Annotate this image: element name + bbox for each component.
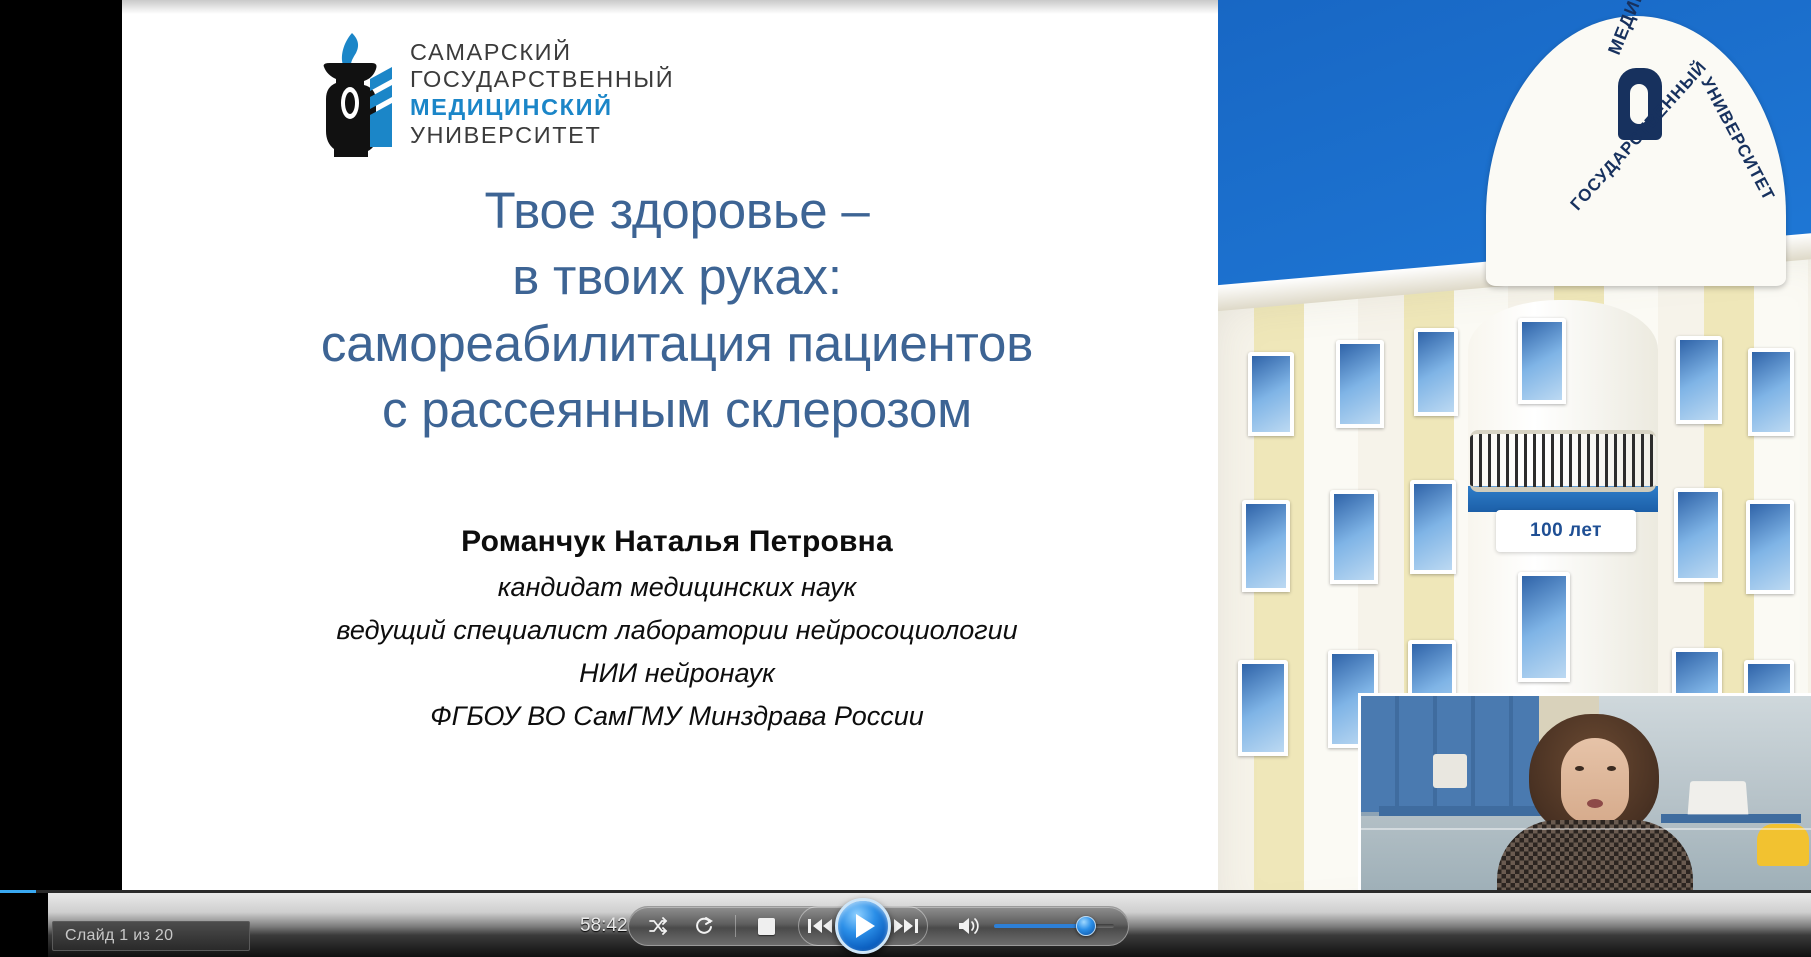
- presentation-slide: САМАРСКИЙ ГОСУДАРСТВЕННЫЙ МЕДИЦИНСКИЙ УН…: [122, 0, 1218, 890]
- logo-line-3: МЕДИЦИНСКИЙ: [410, 94, 674, 122]
- volume-control: [954, 911, 1114, 941]
- office-laptop: [1688, 781, 1749, 814]
- shuffle-icon[interactable]: [643, 911, 673, 941]
- playback-progress-fill: [0, 890, 36, 893]
- samgmu-torch-emblem-icon: [318, 29, 396, 159]
- window: [1336, 340, 1384, 428]
- next-button[interactable]: [891, 911, 921, 941]
- webcam-scanline: [1361, 828, 1811, 830]
- presenter-credential-1: кандидат медицинских наук: [182, 572, 1172, 603]
- volume-slider-knob[interactable]: [1076, 916, 1096, 936]
- university-logo: САМАРСКИЙ ГОСУДАРСТВЕННЫЙ МЕДИЦИНСКИЙ УН…: [318, 28, 738, 160]
- presenter-eye-right: [1607, 766, 1616, 771]
- presenter-webcam-overlay[interactable]: [1358, 693, 1811, 890]
- office-chair: [1757, 824, 1809, 866]
- window: [1748, 348, 1794, 436]
- window: [1238, 660, 1288, 756]
- presenter-credential-3: НИИ нейронаук: [182, 658, 1172, 689]
- window: [1518, 572, 1570, 682]
- presenter-torso: [1497, 820, 1693, 890]
- window: [1676, 336, 1722, 424]
- window: [1330, 490, 1378, 584]
- presenter-credential-4: ФГБОУ ВО СамГМУ Минздрава России: [182, 701, 1172, 732]
- window: [1746, 500, 1794, 594]
- title-line-2: в твоих руках:: [262, 244, 1092, 310]
- skip-button-group: [798, 906, 928, 946]
- slide-title: Твое здоровье – в твоих руках: самореаби…: [262, 178, 1092, 443]
- building-balcony: [1470, 430, 1656, 492]
- player-bottom-bar: Слайд 1 из 20 58:42: [0, 890, 1811, 957]
- title-line-4: с рассеянным склерозом: [262, 377, 1092, 443]
- transport-button-group: [628, 906, 1129, 946]
- slide-counter: Слайд 1 из 20: [52, 921, 250, 951]
- logo-wordmark: САМАРСКИЙ ГОСУДАРСТВЕННЫЙ МЕДИЦИНСКИЙ УН…: [410, 39, 674, 150]
- previous-button[interactable]: [805, 911, 835, 941]
- window: [1674, 488, 1722, 582]
- logo-line-1: САМАРСКИЙ: [410, 39, 674, 67]
- anniversary-badge: 100 лет: [1496, 510, 1636, 552]
- title-line-3: самореабилитация пациентов: [262, 311, 1092, 377]
- logo-line-2: ГОСУДАРСТВЕННЫЙ: [410, 66, 674, 94]
- window: [1518, 318, 1566, 404]
- office-desk-right: [1661, 814, 1801, 823]
- slide-counter-label: Слайд 1 из 20: [65, 927, 173, 945]
- stop-icon: [758, 918, 775, 935]
- presenter-name: Романчук Наталья Петровна: [182, 525, 1172, 559]
- slide-top-shadow: [122, 0, 1218, 14]
- office-monitor: [1433, 754, 1467, 788]
- window: [1410, 480, 1456, 574]
- play-icon: [856, 914, 875, 938]
- slide-stage: САМАРСКИЙ ГОСУДАРСТВЕННЫЙ МЕДИЦИНСКИЙ УН…: [0, 0, 1811, 890]
- window: [1242, 500, 1290, 592]
- video-player-window: САМАРСКИЙ ГОСУДАРСТВЕННЫЙ МЕДИЦИНСКИЙ УН…: [0, 0, 1811, 957]
- logo-line-4: УНИВЕРСИТЕТ: [410, 122, 674, 150]
- presenter-block: Романчук Наталья Петровна кандидат медиц…: [182, 525, 1172, 732]
- window: [1248, 352, 1294, 436]
- volume-icon[interactable]: [954, 911, 984, 941]
- presenter-mouth: [1587, 799, 1603, 808]
- presenter-face: [1561, 738, 1629, 824]
- repeat-icon[interactable]: [689, 911, 719, 941]
- volume-slider[interactable]: [994, 924, 1114, 928]
- presenter-credential-2: ведущий специалист лаборатории нейросоци…: [182, 615, 1172, 646]
- volume-slider-fill: [994, 924, 1084, 928]
- play-button[interactable]: [835, 898, 891, 954]
- presenter-eye-left: [1575, 766, 1584, 771]
- title-line-1: Твое здоровье –: [262, 178, 1092, 244]
- elapsed-time: 58:42: [580, 915, 628, 937]
- window: [1414, 328, 1458, 416]
- office-desk-left: [1379, 806, 1549, 816]
- control-divider: [735, 915, 736, 937]
- transport-controls: 58:42: [580, 904, 1040, 948]
- stop-button[interactable]: [752, 911, 782, 941]
